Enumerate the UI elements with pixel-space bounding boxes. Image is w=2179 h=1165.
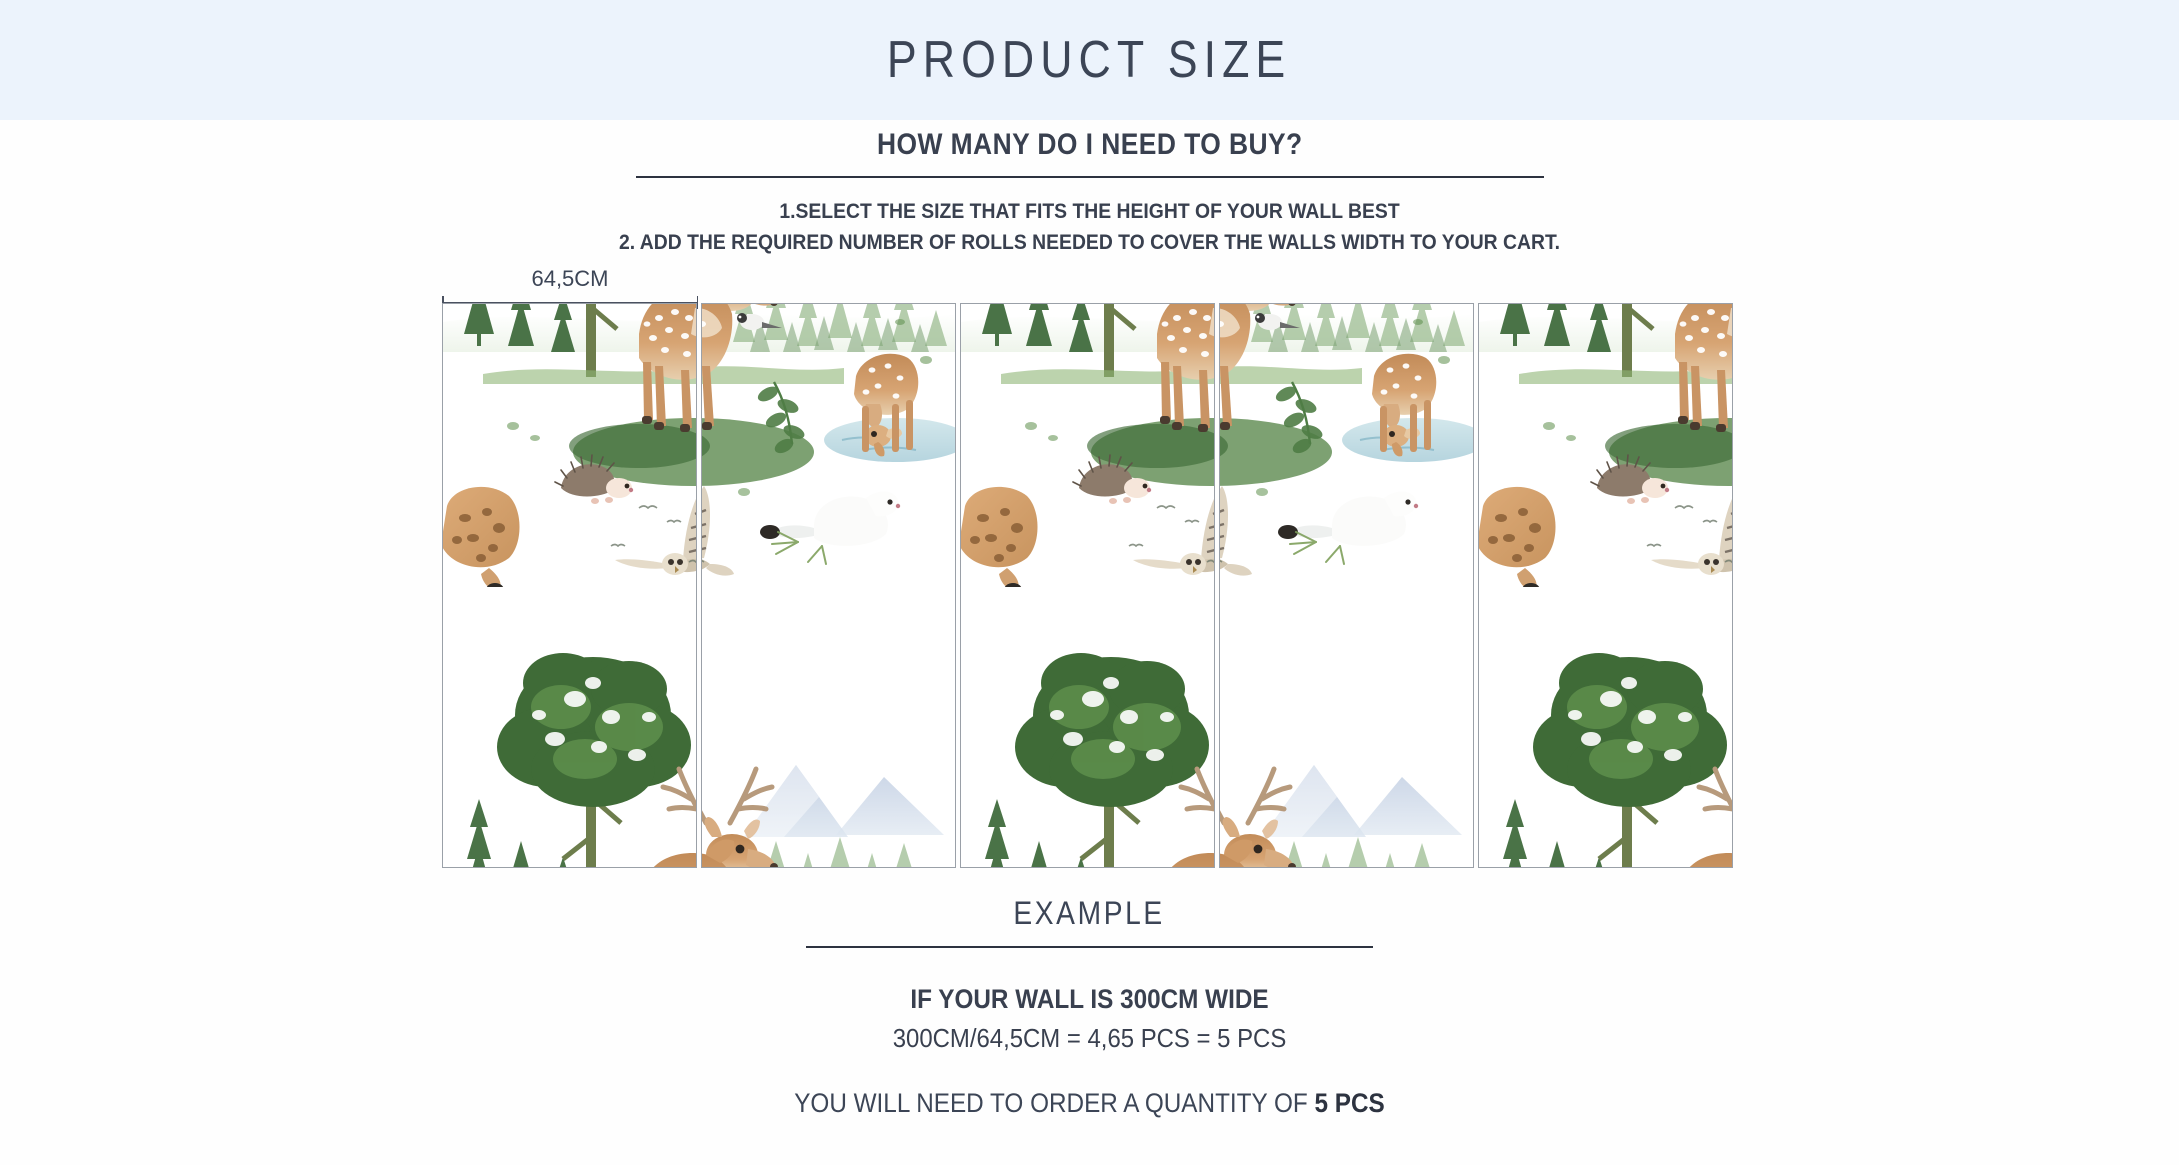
example-order-amount: 5 PCS [1315, 1088, 1385, 1118]
intro-step-1: 1.SELECT THE SIZE THAT FITS THE HEIGHT O… [109, 196, 2070, 227]
woodland-pattern-artwork [443, 303, 697, 868]
wallpaper-panel-5[interactable] [1478, 303, 1733, 868]
example-divider [806, 946, 1373, 948]
example-wall-width: IF YOUR WALL IS 300CM WIDE [109, 984, 2070, 1015]
woodland-pattern-artwork [1219, 303, 1474, 868]
example-section: EXAMPLE IF YOUR WALL IS 300CM WIDE 300CM… [0, 895, 2179, 1119]
example-order-quantity: YOU WILL NEED TO ORDER A QUANTITY OF 5 P… [109, 1088, 2070, 1119]
page-title: PRODUCT SIZE [887, 30, 1291, 90]
example-heading: EXAMPLE [1014, 895, 1166, 932]
width-dimension: 64,5CM [442, 268, 698, 308]
product-size-page: PRODUCT SIZE HOW MANY DO I NEED TO BUY? … [0, 0, 2179, 1165]
intro-section: HOW MANY DO I NEED TO BUY? 1.SELECT THE … [0, 128, 2179, 258]
intro-heading: HOW MANY DO I NEED TO BUY? [877, 128, 1303, 162]
intro-step-2: 2. ADD THE REQUIRED NUMBER OF ROLLS NEED… [109, 227, 2070, 258]
woodland-pattern-artwork [961, 303, 1215, 868]
wallpaper-panel-1[interactable] [442, 303, 697, 868]
wallpaper-panel-strip [442, 303, 1735, 868]
page-header: PRODUCT SIZE [0, 0, 2179, 120]
intro-steps: 1.SELECT THE SIZE THAT FITS THE HEIGHT O… [109, 196, 2070, 258]
wallpaper-panel-2[interactable] [701, 303, 956, 868]
woodland-pattern-artwork [701, 303, 956, 868]
wallpaper-panel-3[interactable] [960, 303, 1215, 868]
width-dimension-label: 64,5CM [442, 268, 698, 290]
example-order-prefix: YOU WILL NEED TO ORDER A QUANTITY OF [794, 1088, 1314, 1118]
intro-divider [636, 176, 1544, 178]
woodland-pattern-artwork [1479, 303, 1733, 868]
wallpaper-panel-4[interactable] [1219, 303, 1474, 868]
example-calculation: 300CM/64,5CM = 4,65 PCS = 5 PCS [87, 1023, 2092, 1054]
